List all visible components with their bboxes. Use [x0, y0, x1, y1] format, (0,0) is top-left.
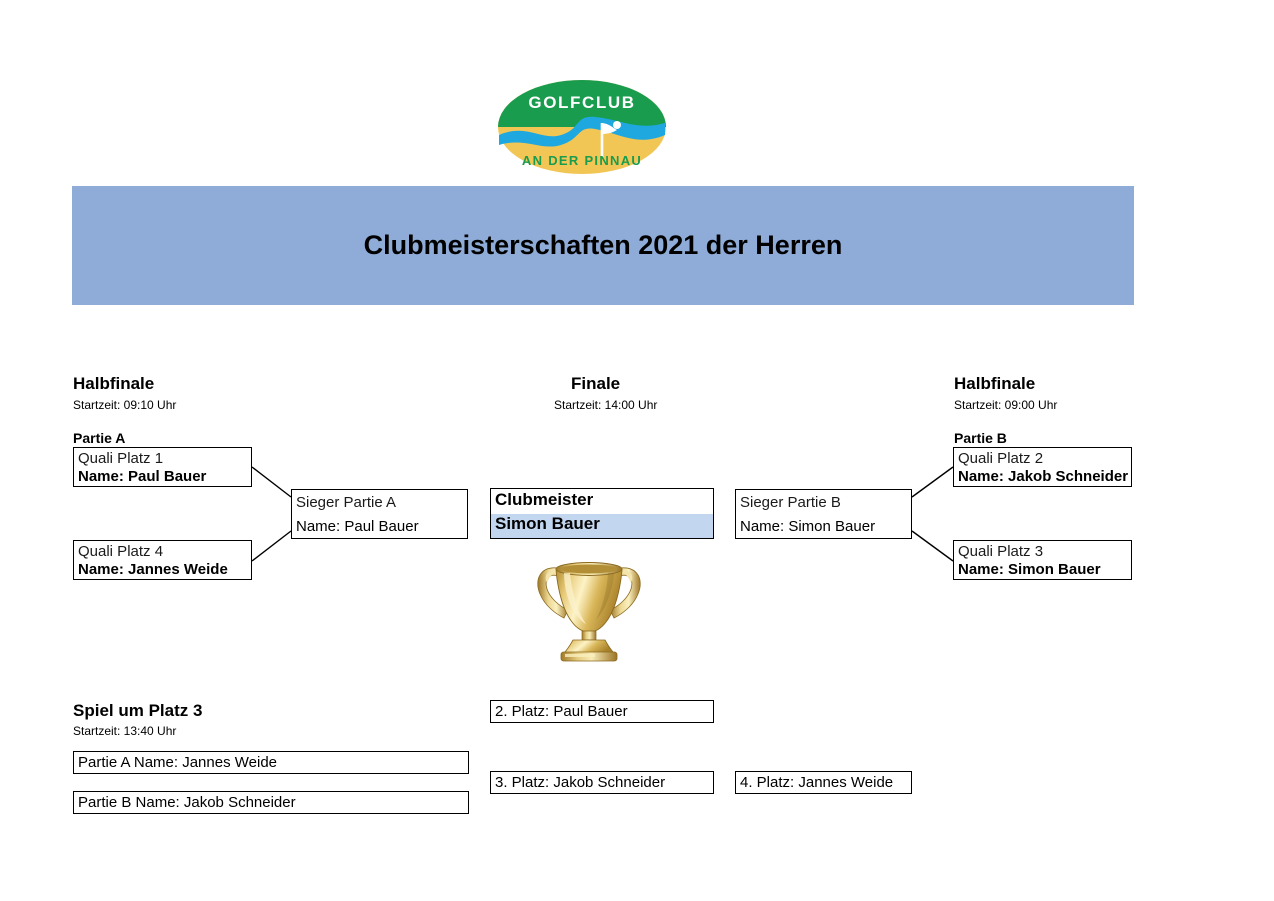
- tournament-bracket-page: GOLFCLUB AN DER PINNAU Clubmeisterschaft…: [0, 0, 1274, 901]
- placement-fourth[interactable]: 4. Platz: Jannes Weide: [735, 771, 912, 794]
- title-banner: Clubmeisterschaften 2021 der Herren: [72, 186, 1134, 305]
- left-bracket-start-time: Startzeit: 09:10 Uhr: [73, 398, 176, 412]
- placement-third[interactable]: 3. Platz: Jakob Schneider: [490, 771, 714, 794]
- third-place-heading: Spiel um Platz 3: [73, 701, 202, 721]
- third-place-entry-b-label: Partie B Name: Jakob Schneider: [78, 794, 296, 811]
- player-name: Name: Simon Bauer: [958, 560, 1101, 579]
- right-bracket-heading: Halbfinale: [954, 374, 1035, 394]
- seed-label: Quali Platz 2: [958, 449, 1043, 468]
- placement-fourth-label: 4. Platz: Jannes Weide: [740, 774, 893, 791]
- seed-label: Quali Platz 4: [78, 542, 163, 561]
- semifinal-slot-3[interactable]: Quali Platz 3 Name: Simon Bauer: [953, 540, 1132, 580]
- winner-name: Name: Simon Bauer: [740, 517, 875, 536]
- champion-name: Simon Bauer: [495, 514, 600, 534]
- seed-label: Quali Platz 3: [958, 542, 1043, 561]
- semifinal-slot-2[interactable]: Quali Platz 2 Name: Jakob Schneider: [953, 447, 1132, 487]
- final-start-time: Startzeit: 14:00 Uhr: [554, 398, 657, 412]
- seed-label: Quali Platz 1: [78, 449, 163, 468]
- player-name: Name: Jannes Weide: [78, 560, 228, 579]
- golfclub-logo: GOLFCLUB AN DER PINNAU: [497, 79, 667, 176]
- placement-second-label: 2. Platz: Paul Bauer: [495, 703, 628, 720]
- svg-text:GOLFCLUB: GOLFCLUB: [528, 93, 635, 112]
- player-name: Name: Paul Bauer: [78, 467, 206, 486]
- winner-partie-b-box[interactable]: Sieger Partie B Name: Simon Bauer: [735, 489, 912, 539]
- left-group-label: Partie A: [73, 430, 125, 446]
- winner-label: Sieger Partie A: [296, 493, 396, 512]
- champion-label: Clubmeister: [495, 490, 593, 510]
- semifinal-slot-1[interactable]: Quali Platz 1 Name: Paul Bauer: [73, 447, 252, 487]
- placement-third-label: 3. Platz: Jakob Schneider: [495, 774, 665, 791]
- right-group-label: Partie B: [954, 430, 1007, 446]
- final-heading: Finale: [571, 374, 620, 394]
- third-place-entry-a-label: Partie A Name: Jannes Weide: [78, 754, 277, 771]
- winner-partie-a-box[interactable]: Sieger Partie A Name: Paul Bauer: [291, 489, 468, 539]
- third-place-start-time: Startzeit: 13:40 Uhr: [73, 724, 176, 738]
- placement-second[interactable]: 2. Platz: Paul Bauer: [490, 700, 714, 723]
- right-bracket-start-time: Startzeit: 09:00 Uhr: [954, 398, 1057, 412]
- page-title: Clubmeisterschaften 2021 der Herren: [364, 230, 843, 261]
- left-bracket-heading: Halbfinale: [73, 374, 154, 394]
- semifinal-slot-4[interactable]: Quali Platz 4 Name: Jannes Weide: [73, 540, 252, 580]
- winner-label: Sieger Partie B: [740, 493, 841, 512]
- trophy-icon: [528, 552, 650, 664]
- player-name: Name: Jakob Schneider: [958, 467, 1128, 486]
- third-place-entry-b[interactable]: Partie B Name: Jakob Schneider: [73, 791, 469, 814]
- winner-name: Name: Paul Bauer: [296, 517, 419, 536]
- champion-name-row: Simon Bauer: [491, 514, 713, 538]
- svg-text:AN DER PINNAU: AN DER PINNAU: [522, 153, 642, 168]
- champion-box[interactable]: Clubmeister Simon Bauer: [490, 488, 714, 539]
- third-place-entry-a[interactable]: Partie A Name: Jannes Weide: [73, 751, 469, 774]
